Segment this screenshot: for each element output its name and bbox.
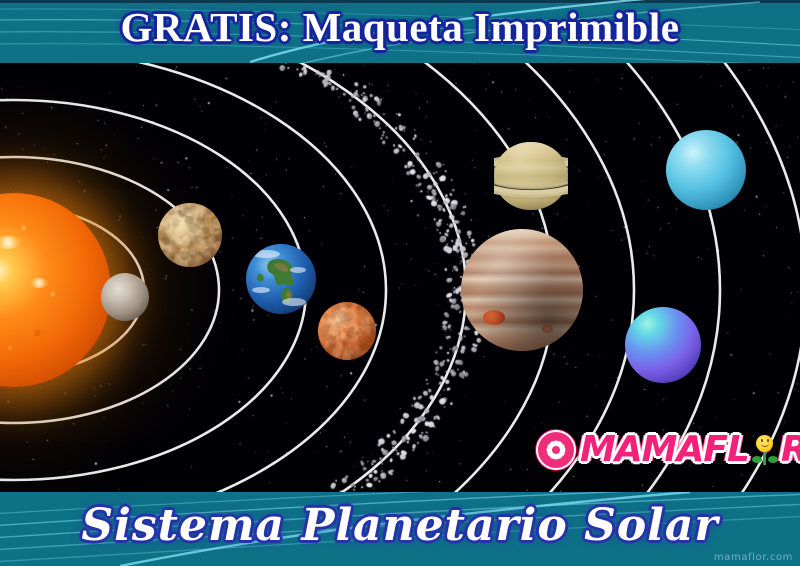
body-mars — [318, 302, 376, 360]
flower-leaf — [752, 456, 762, 463]
body-venus — [158, 203, 222, 267]
flower-badge-icon — [536, 430, 576, 470]
jupiter-shading — [461, 229, 583, 351]
mamaflor-text-before: MAMAFL — [580, 432, 749, 468]
body-jupiter — [461, 229, 583, 351]
flower-leaf — [768, 456, 778, 463]
mars-texture — [318, 302, 376, 360]
venus-texture — [158, 203, 222, 267]
solar-system-poster: GRATIS: Maqueta Imprimible Sistema Plane… — [0, 0, 800, 566]
body-earth — [246, 244, 316, 314]
earth-continents — [246, 244, 316, 314]
sun-flare — [0, 236, 21, 249]
body-mercury — [101, 273, 149, 321]
body-uranus — [666, 130, 746, 210]
header-band: GRATIS: Maqueta Imprimible — [0, 0, 800, 63]
mamaflor-logo[interactable]: MAMAFL R — [536, 430, 800, 470]
page-title: GRATIS: Maqueta Imprimible — [0, 3, 800, 51]
flower-stem — [763, 451, 766, 465]
body-saturn — [494, 139, 568, 213]
body-neptune — [625, 307, 701, 383]
sunflower-smiley-icon — [750, 433, 780, 467]
flower-badge-core — [552, 446, 560, 454]
mamaflor-text-after: R — [781, 432, 800, 468]
footer-band: Sistema Planetario Solar mamaflor.com — [0, 492, 800, 566]
watermark: mamaflor.com — [714, 552, 793, 563]
poster-subtitle: Sistema Planetario Solar — [0, 500, 800, 551]
mamaflor-wordmark: MAMAFL R — [580, 432, 800, 468]
